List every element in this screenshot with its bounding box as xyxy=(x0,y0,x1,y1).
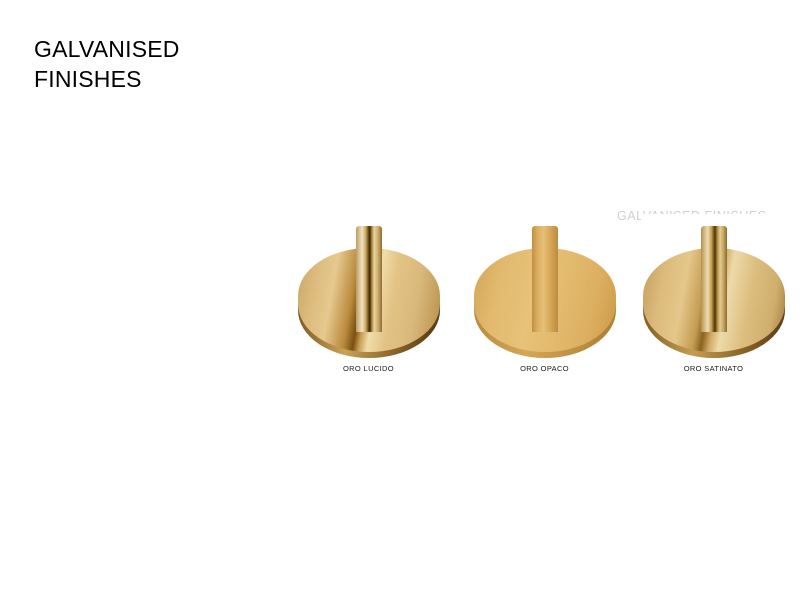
finish-swatch-strip: ORO LUCIDO ORO OPACO ORO SATINATO xyxy=(296,214,786,384)
slide-canvas: { "page": { "background_color": "#ffffff… xyxy=(0,0,800,600)
finish-label: ORO LUCIDO xyxy=(296,364,441,373)
vertical-post xyxy=(701,226,727,332)
finish-label: ORO OPACO xyxy=(472,364,617,373)
finish-label: ORO SATINATO xyxy=(641,364,786,373)
finish-photo-oro-lucido[interactable] xyxy=(296,214,441,359)
vertical-post xyxy=(532,226,558,332)
finish-photo-oro-satinato[interactable] xyxy=(641,214,786,359)
finish-swatch-oro-satinato[interactable]: ORO SATINATO xyxy=(641,214,786,384)
finish-swatch-oro-opaco[interactable]: ORO OPACO xyxy=(472,214,617,384)
vertical-post xyxy=(356,226,382,332)
finish-swatch-oro-lucido[interactable]: ORO LUCIDO xyxy=(296,214,441,384)
page-title: GALVANISED FINISHES xyxy=(34,34,180,94)
finish-photo-oro-opaco[interactable] xyxy=(472,214,617,359)
